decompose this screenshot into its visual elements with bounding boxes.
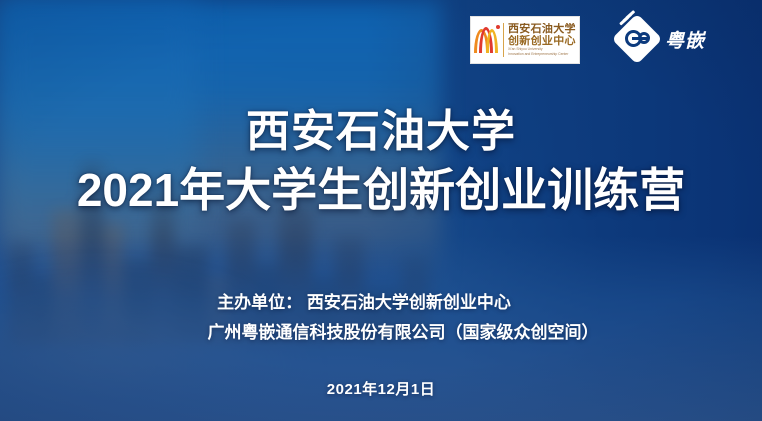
organizer-block: 主办单位： 西安石油大学创新创业中心 广州粤嵌通信科技股份有限公司（国家级众创空… bbox=[0, 288, 762, 348]
partner-logo: 粤嵌 bbox=[614, 14, 734, 64]
logo-row: 西安石油大学 创新创业中心 Xi'an Shiyou University In… bbox=[0, 14, 762, 66]
title-line-1: 西安石油大学 bbox=[0, 104, 762, 160]
event-date: 2021年12月1日 bbox=[0, 378, 762, 399]
organizer-line-2: 广州粤嵌通信科技股份有限公司（国家级众创空间） bbox=[0, 318, 762, 348]
university-logo-en-line2: Innovation and Entrepreneurship Center bbox=[508, 52, 576, 57]
presentation-title-slide: 西安石油大学 创新创业中心 Xi'an Shiyou University In… bbox=[0, 0, 762, 421]
partner-logo-text: 粤嵌 bbox=[665, 26, 705, 53]
organizer-line-1: 主办单位： 西安石油大学创新创业中心 bbox=[0, 288, 762, 318]
university-logo: 西安石油大学 创新创业中心 Xi'an Shiyou University In… bbox=[470, 16, 580, 64]
title-line-2: 2021年大学生创新创业训练营 bbox=[0, 160, 762, 220]
university-logo-cn-line1: 西安石油大学 bbox=[508, 23, 576, 35]
university-logo-text: 西安石油大学 创新创业中心 Xi'an Shiyou University In… bbox=[503, 23, 576, 57]
university-logo-cn-line2: 创新创业中心 bbox=[508, 35, 576, 47]
gec-diamond-icon bbox=[614, 16, 660, 62]
title-block: 西安石油大学 2021年大学生创新创业训练营 bbox=[0, 104, 762, 220]
university-emblem-icon bbox=[474, 25, 500, 55]
